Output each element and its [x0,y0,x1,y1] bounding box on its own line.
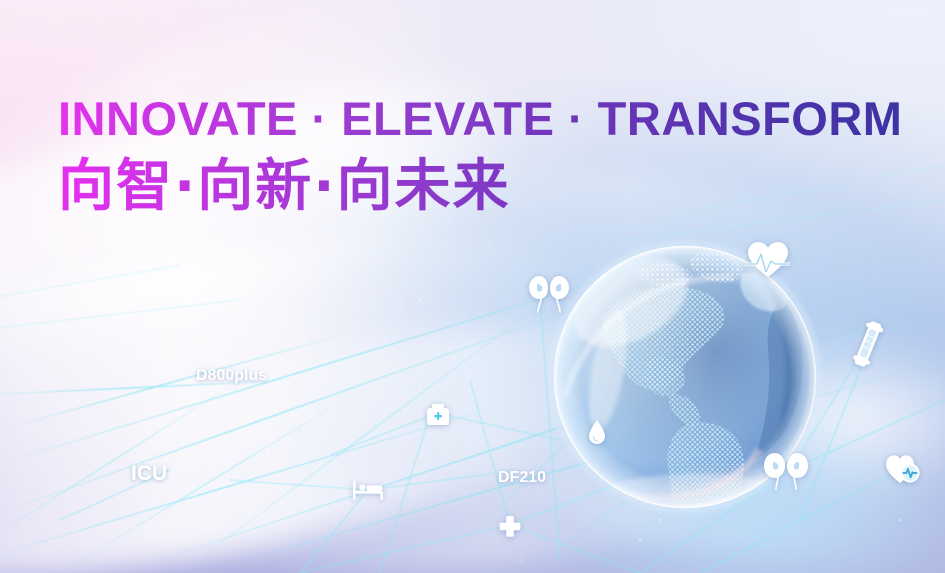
label-icu: ICU [131,462,167,486]
dialyzer-icon [851,318,885,370]
headline-block: INNOVATE · ELEVATE · TRANSFORM 向智·向新·向未来 [58,95,902,218]
kidneys-icon [524,272,574,316]
water-drop-icon [586,418,608,446]
medical-cross-icon [498,514,522,538]
promo-banner: INNOVATE · ELEVATE · TRANSFORM 向智·向新·向未来… [0,0,945,573]
hospital-bed-icon [352,478,386,502]
heart-ecg-icon [746,240,790,280]
heart-pulse-badge-icon [884,452,922,486]
headline-english: INNOVATE · ELEVATE · TRANSFORM [58,95,902,142]
medical-bag-icon [424,400,452,428]
headline-chinese: 向智·向新·向未来 [58,156,902,218]
label-d800plus: D800plus [196,367,267,385]
kidneys-icon [760,450,812,490]
label-df210: DF210 [498,469,546,487]
